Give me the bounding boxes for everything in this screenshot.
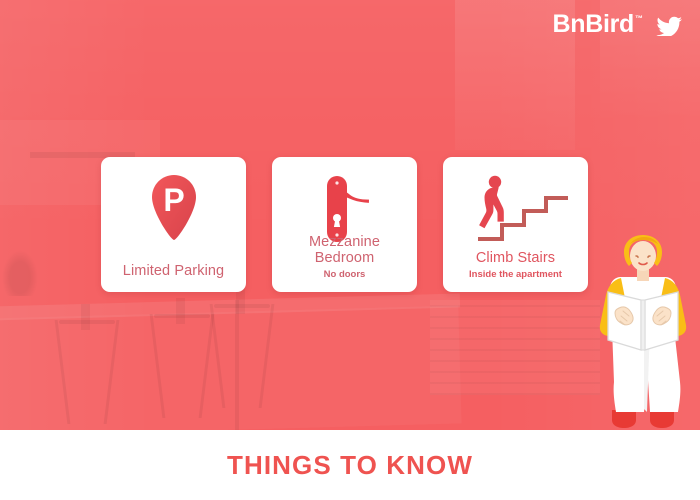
card-icon-wrap bbox=[464, 173, 568, 245]
card-icon-wrap: P bbox=[145, 173, 203, 245]
brand-logo[interactable]: BnBird ™ bbox=[552, 12, 682, 37]
card-labels: Climb Stairs Inside the apartment bbox=[443, 251, 588, 280]
footer-title: THINGS TO KNOW bbox=[227, 450, 473, 481]
card-climb-stairs[interactable]: Climb Stairs Inside the apartment bbox=[443, 157, 588, 292]
info-cards: P Limited Parking bbox=[101, 157, 588, 292]
card-mezzanine-bedroom[interactable]: Mezzanine Bedroom No doors bbox=[272, 157, 417, 292]
trademark-symbol: ™ bbox=[635, 14, 643, 23]
card-limited-parking[interactable]: P Limited Parking bbox=[101, 157, 246, 292]
person-reading-book-illustration bbox=[588, 232, 698, 430]
footer-bar: THINGS TO KNOW bbox=[0, 430, 700, 500]
brand-name: BnBird bbox=[552, 12, 634, 37]
bird-icon bbox=[652, 14, 682, 36]
banner-stage: BnBird ™ bbox=[0, 0, 700, 500]
map-pin-parking-icon: P bbox=[145, 173, 203, 245]
person-climbing-stairs-icon bbox=[464, 173, 568, 245]
card-labels: Mezzanine Bedroom No doors bbox=[272, 235, 417, 280]
card-subtitle: Inside the apartment bbox=[449, 270, 582, 280]
svg-text:P: P bbox=[163, 182, 184, 218]
card-title: Limited Parking bbox=[107, 264, 240, 280]
card-title: Climb Stairs bbox=[449, 251, 582, 267]
hero-section: BnBird ™ bbox=[0, 0, 700, 430]
card-subtitle: No doors bbox=[278, 270, 411, 280]
card-title: Mezzanine Bedroom bbox=[278, 235, 411, 267]
card-labels: Limited Parking bbox=[101, 264, 246, 280]
